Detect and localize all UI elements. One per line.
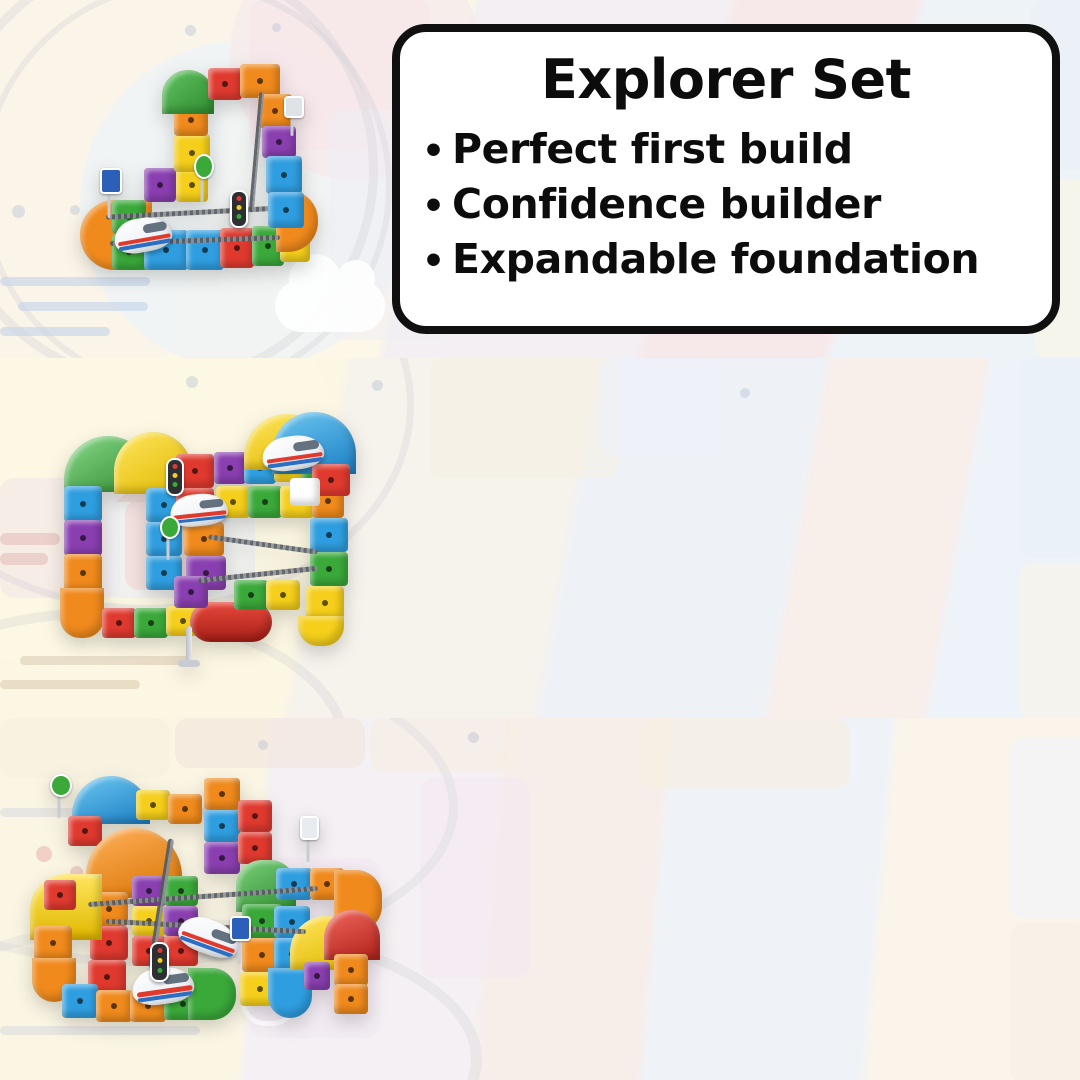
comparison-infographic: Explorer Set • Perfect first build • Con… bbox=[0, 0, 1080, 1080]
card-explorer-title: Explorer Set bbox=[400, 52, 1052, 107]
panel-inventor: Inventor Set • Level up the adventure • … bbox=[0, 358, 1080, 718]
bullet-icon: • bbox=[422, 134, 452, 170]
list-item-label: Expandable foundation bbox=[452, 235, 979, 284]
road-sign-round bbox=[160, 516, 176, 560]
road-sign-white bbox=[300, 816, 315, 862]
traffic-signal bbox=[230, 190, 248, 228]
list-item: • Confidence builder bbox=[422, 180, 1052, 229]
list-item-label: Perfect first build bbox=[452, 125, 853, 174]
road-sign-blue bbox=[100, 168, 118, 218]
bullet-icon: • bbox=[422, 189, 452, 225]
card-explorer: Explorer Set • Perfect first build • Con… bbox=[392, 24, 1060, 334]
list-item-label: Confidence builder bbox=[452, 180, 881, 229]
panel-explorer: Explorer Set • Perfect first build • Con… bbox=[0, 0, 1080, 358]
road-sign-warning bbox=[194, 154, 210, 202]
bullet-icon: • bbox=[422, 244, 452, 280]
panel-master: Master Set • Ultimate Build experience •… bbox=[0, 718, 1080, 1080]
card-explorer-bullets: • Perfect first build • Confidence build… bbox=[400, 125, 1052, 285]
road-sign-round bbox=[50, 774, 68, 818]
road-sign-triangle bbox=[284, 96, 300, 136]
product-image-master bbox=[28, 776, 376, 1036]
traffic-signal bbox=[150, 942, 169, 982]
list-item: • Perfect first build bbox=[422, 125, 1052, 174]
list-item: • Expandable foundation bbox=[422, 235, 1052, 284]
product-image-explorer bbox=[78, 82, 318, 282]
traffic-signal bbox=[166, 458, 184, 496]
product-image-inventor bbox=[58, 430, 358, 655]
road-sign-blue bbox=[230, 916, 247, 964]
